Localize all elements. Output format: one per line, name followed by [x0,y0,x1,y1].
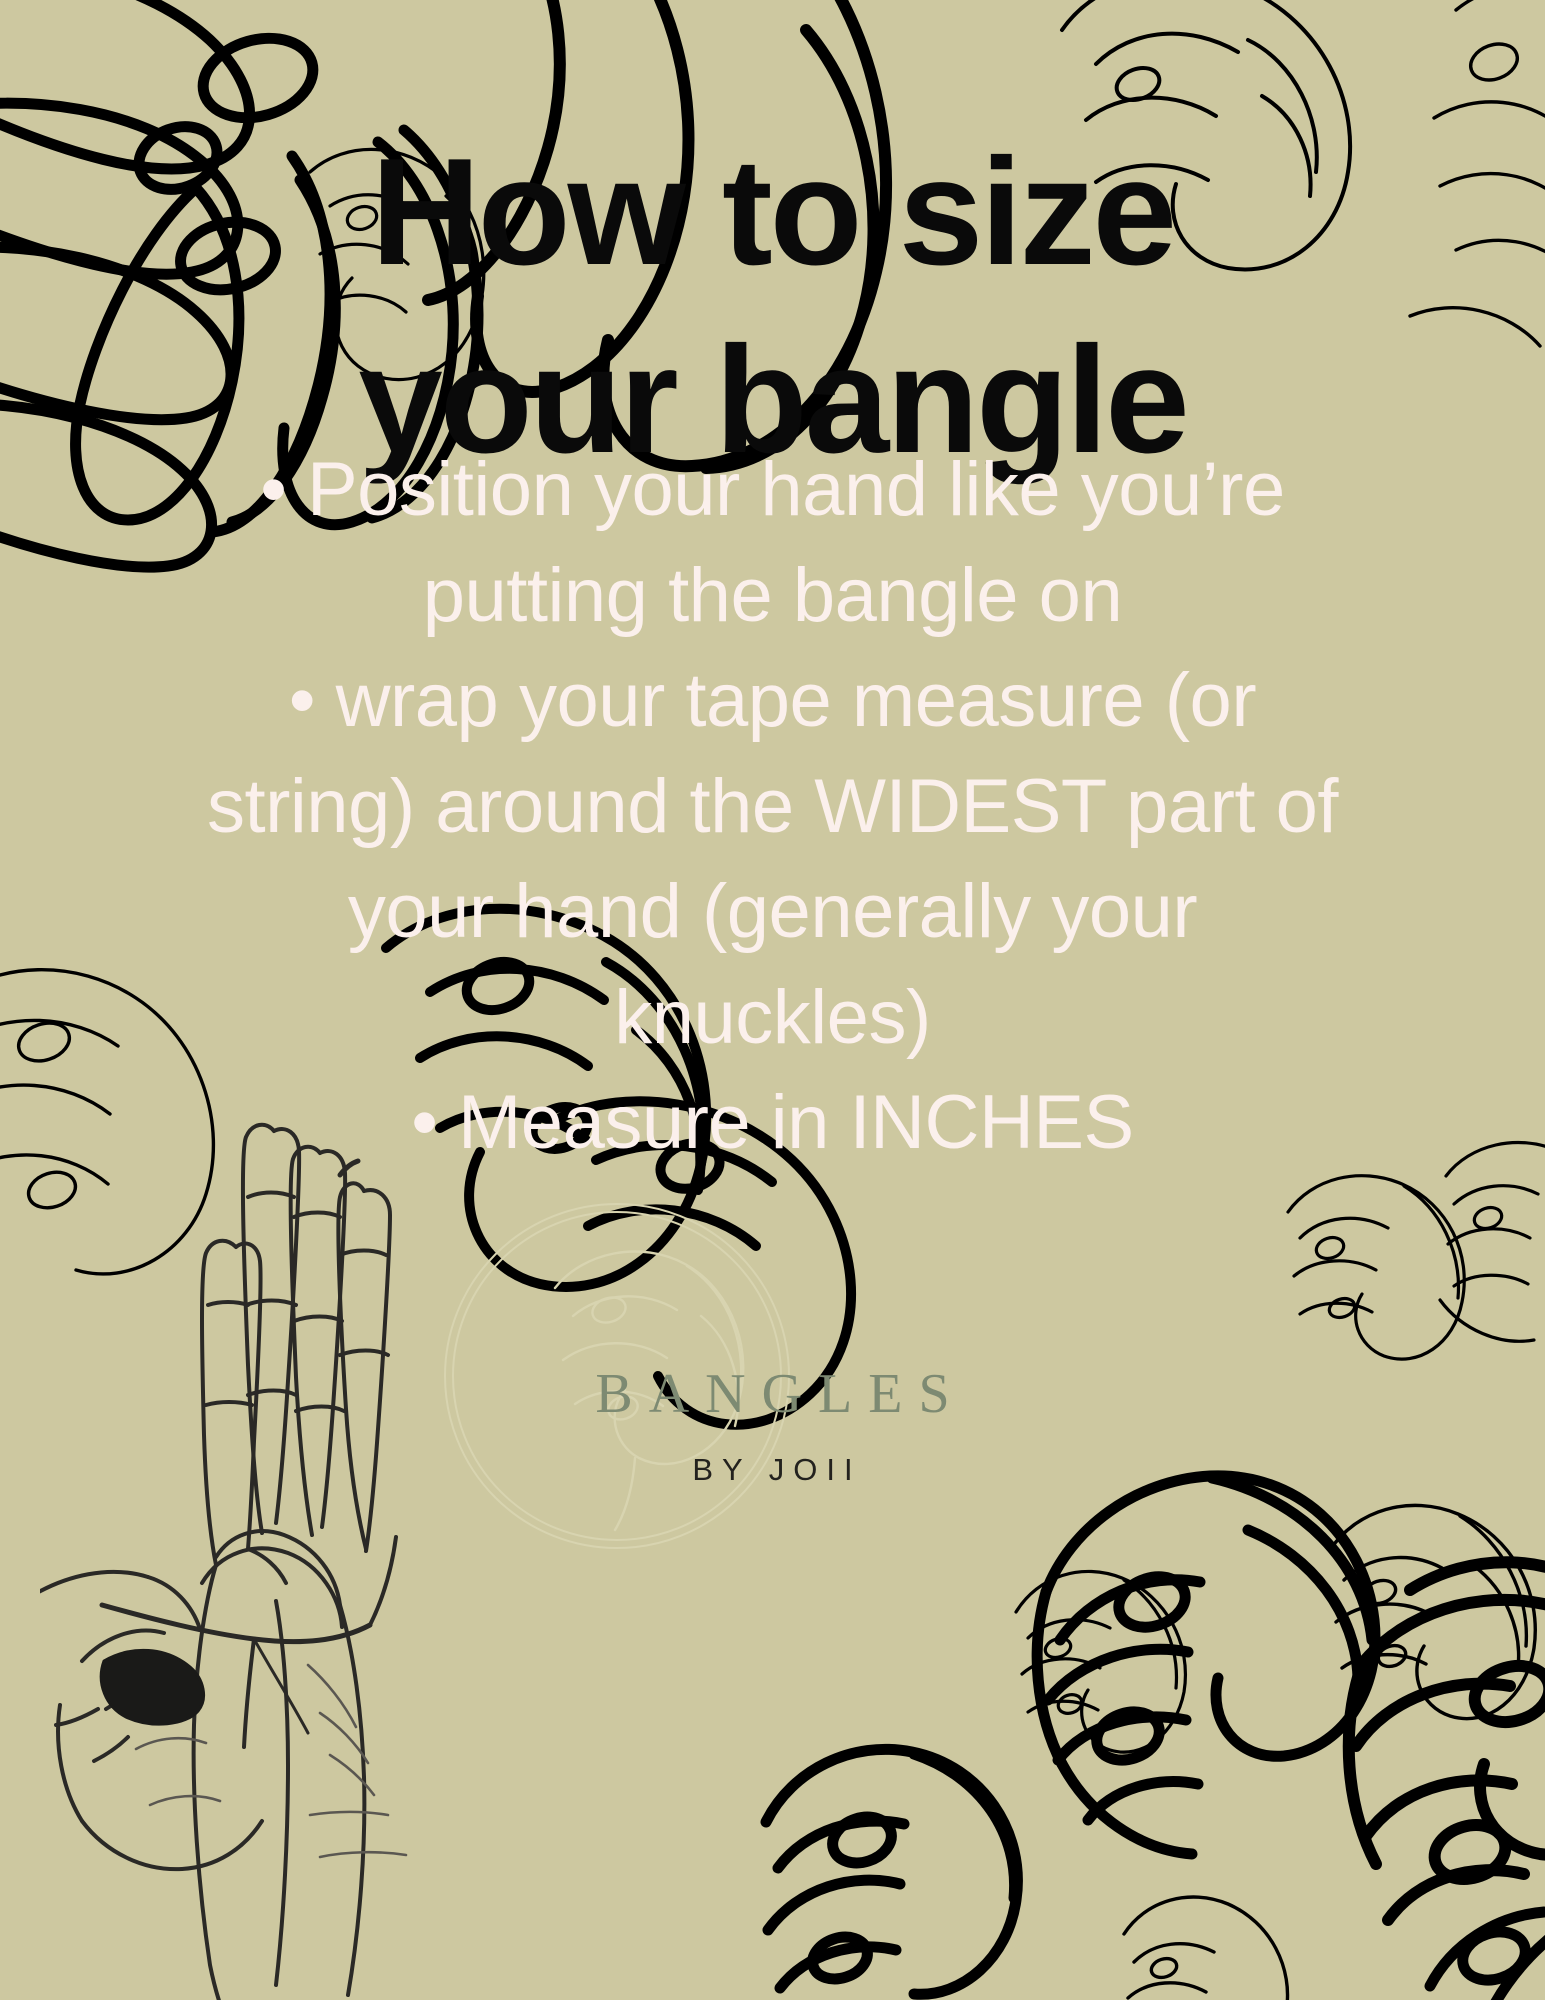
page-title: How to size your bangle [0,118,1545,495]
instruction-line: • wrap your tape measure (or [18,651,1527,751]
instruction-line: putting the bangle on [18,546,1527,646]
poster-canvas: How to size your bangle • Position your … [0,0,1545,2000]
instruction-line: knuckles) [18,968,1527,1068]
hand-measuring-illustration [40,1105,440,2000]
instruction-line: your hand (generally your [18,862,1527,962]
logo-brand-name: BANGLES [0,1362,1545,1426]
instruction-line: • Position your hand like you’re [18,440,1527,540]
instruction-line: • Measure in INCHES [18,1073,1527,1173]
logo-tagline: BY JOII [0,1452,1545,1488]
instruction-line: string) around the WIDEST part of [18,757,1527,857]
title-line-1: How to size [0,118,1545,306]
instruction-list: • Position your hand like you’re putting… [18,440,1527,1179]
